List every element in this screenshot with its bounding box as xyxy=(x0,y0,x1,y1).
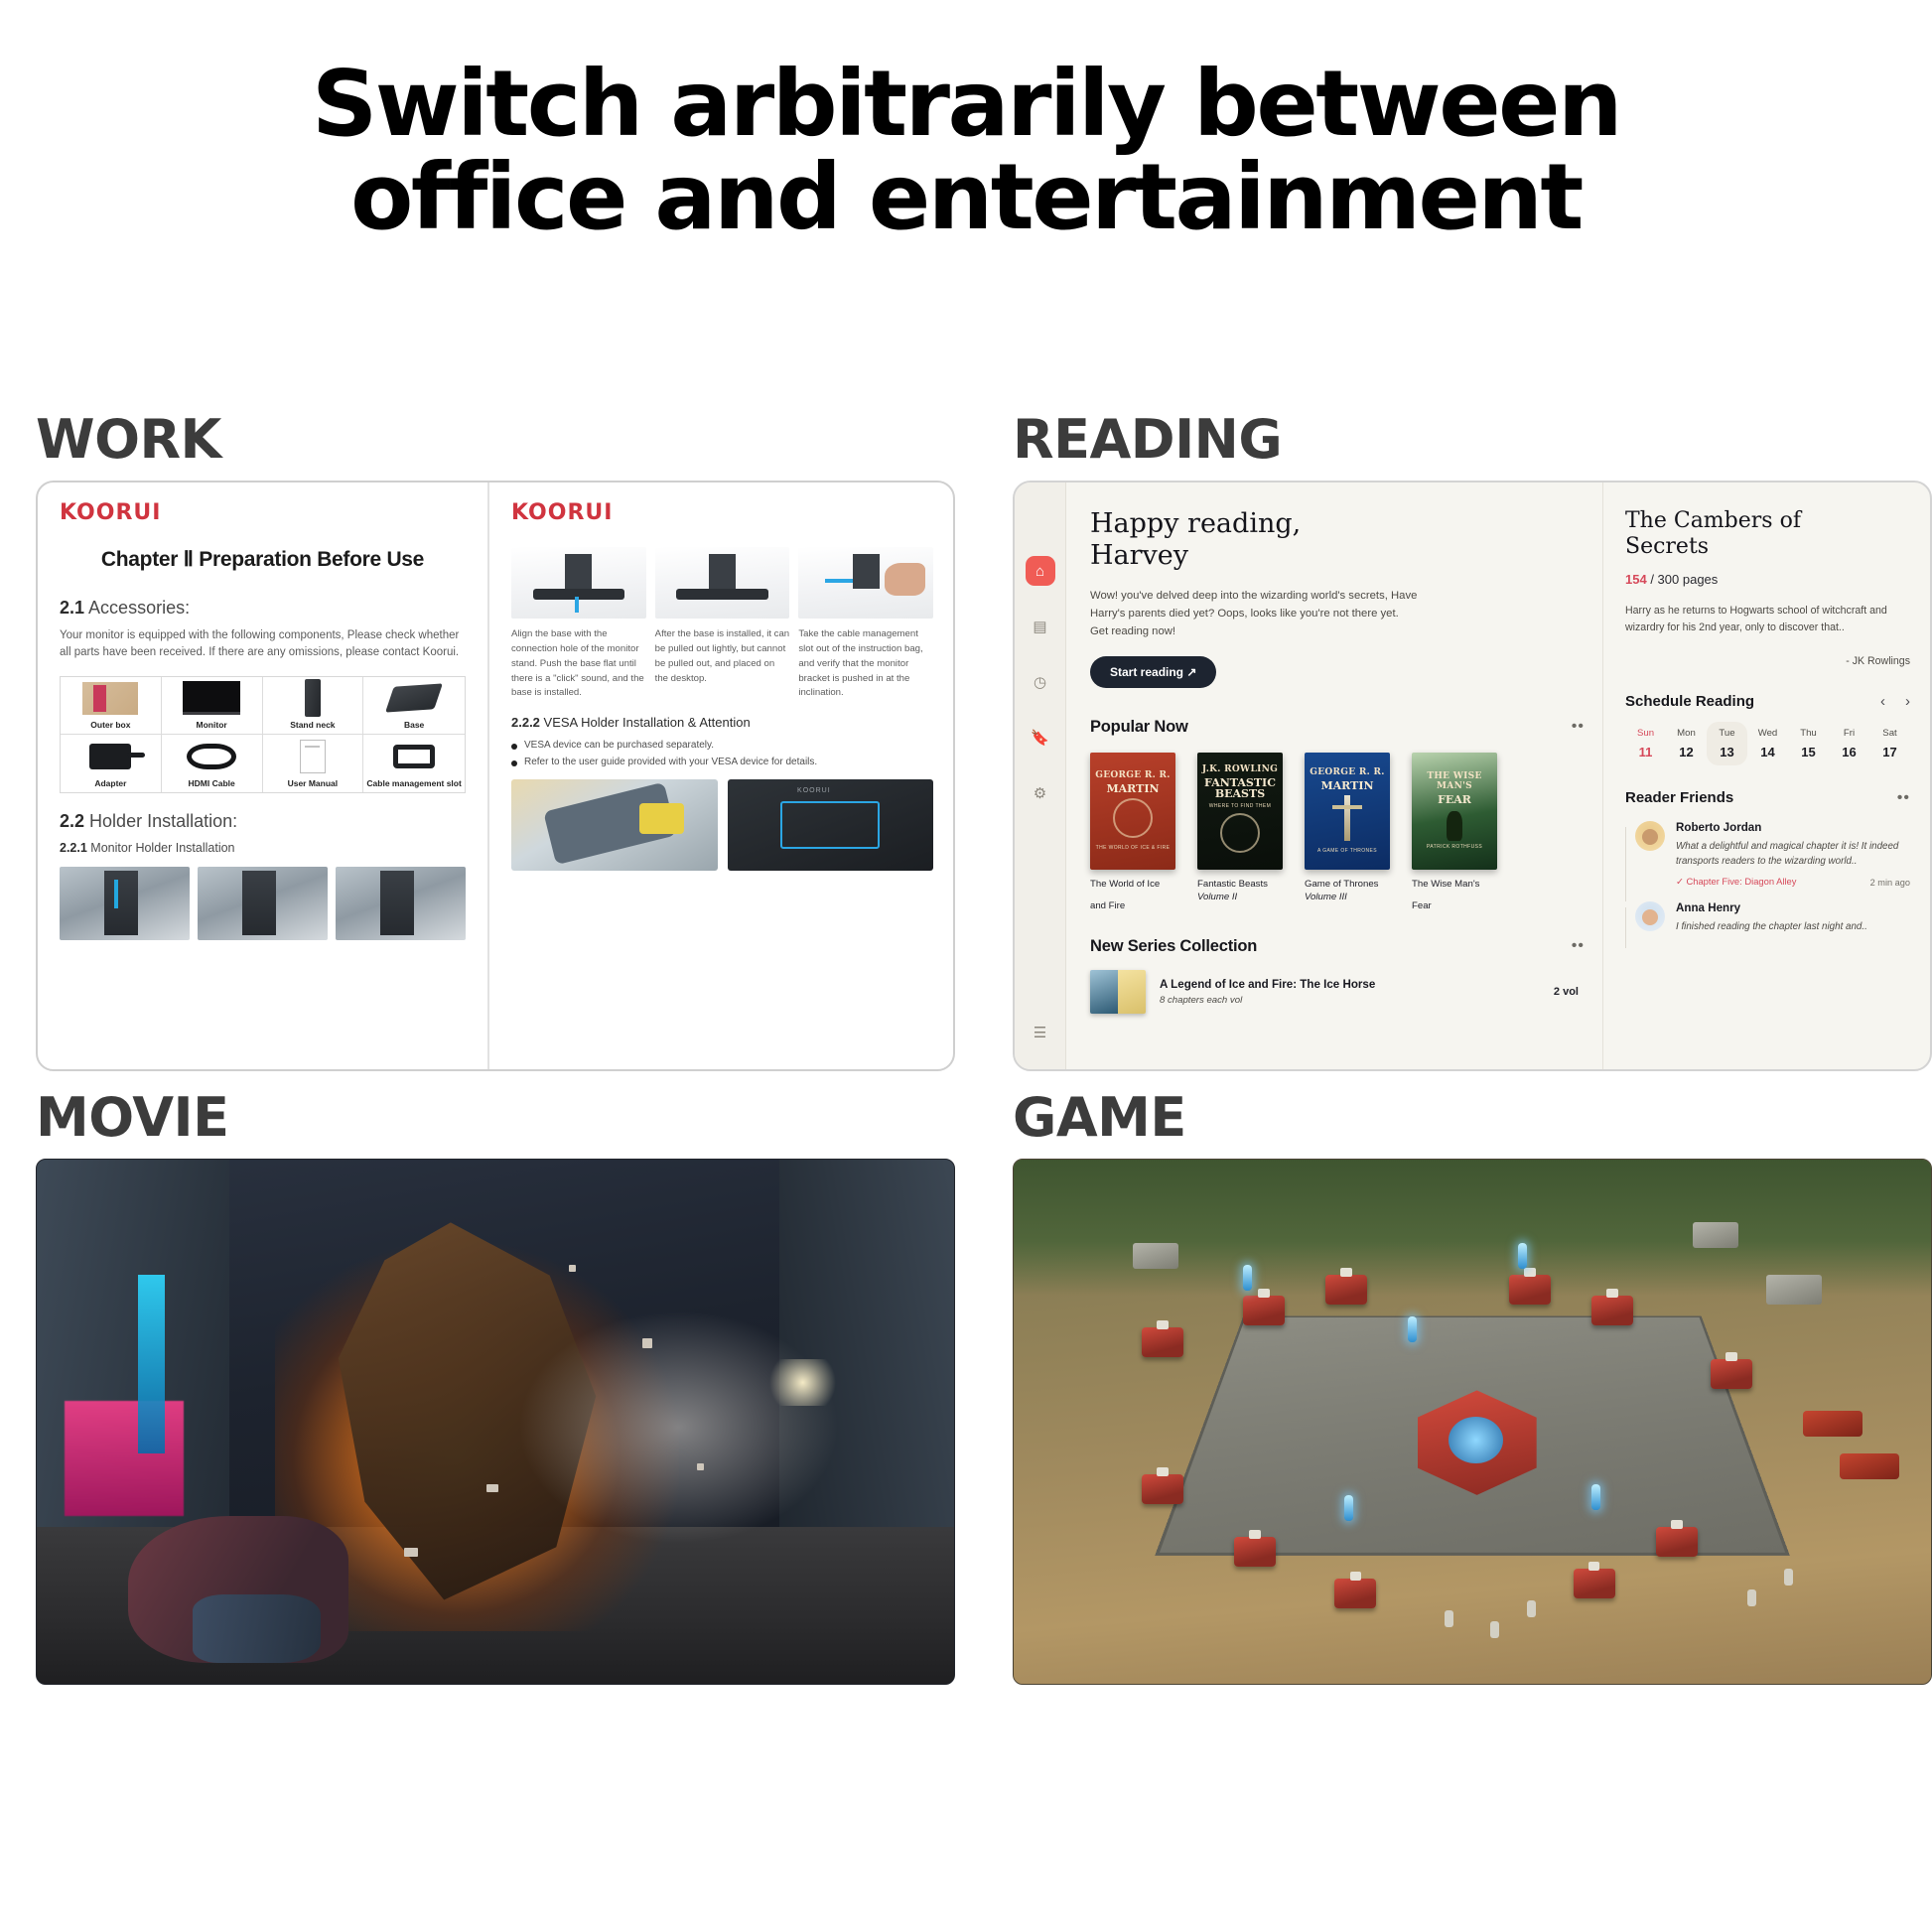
new-series-header: New Series Collection •• xyxy=(1090,937,1585,956)
cover-author: THE WISE MAN'S xyxy=(1416,772,1493,792)
calendar-dow: Thu xyxy=(1788,728,1829,739)
installation-photo xyxy=(60,867,190,940)
calendar-date: 11 xyxy=(1625,745,1666,759)
calendar-date: 13 xyxy=(1707,745,1747,759)
section-2-1-number: 2.1 xyxy=(60,598,84,618)
quadrant-movie: MOVIE xyxy=(36,1091,991,1685)
series-name: A Legend of Ice and Fire: The Ice Horse xyxy=(1160,978,1375,991)
book-card[interactable]: THE WISE MAN'S FEAR PATRICK ROTHFUSS The… xyxy=(1412,753,1497,913)
game-energy-beam xyxy=(1591,1484,1600,1510)
section-2-2-2-heading: 2.2.2 VESA Holder Installation & Attenti… xyxy=(511,715,933,730)
game-unit[interactable] xyxy=(1334,1579,1376,1608)
neon-strip-icon xyxy=(138,1275,166,1453)
book-title: The World of Ice xyxy=(1090,879,1175,892)
headline-line-2: office and entertainment xyxy=(0,151,1932,244)
cover-author: GEORGE R. R. xyxy=(1095,771,1171,781)
game-unit[interactable] xyxy=(1574,1569,1615,1598)
movie-debris xyxy=(642,1338,652,1348)
game-crate[interactable] xyxy=(1133,1243,1178,1269)
chevron-left-icon[interactable]: ‹ xyxy=(1880,693,1885,710)
book-title: Game of Thrones xyxy=(1305,879,1390,892)
accessory-cell: Base xyxy=(363,677,465,735)
avatar xyxy=(1635,821,1665,851)
current-book-author: - JK Rowlings xyxy=(1625,655,1910,667)
book-cover: THE WISE MAN'S FEAR PATRICK ROTHFUSS xyxy=(1412,753,1497,870)
movie-debris xyxy=(486,1484,498,1492)
game-soldier[interactable] xyxy=(1490,1621,1499,1638)
popular-now-title: Popular Now xyxy=(1090,718,1188,737)
manual-page-right: KOORUI Align the base with the connectio… xyxy=(489,483,953,1069)
book-cover: J.K. ROWLING FANTASTIC BEASTS WHERE TO F… xyxy=(1197,753,1283,870)
installation-photo xyxy=(336,867,466,940)
chapter-title: Chapter Ⅱ Preparation Before Use xyxy=(60,547,466,572)
movie-debris xyxy=(404,1548,418,1557)
emblem-icon xyxy=(1113,798,1153,838)
game-soldier[interactable] xyxy=(1527,1600,1536,1617)
friend-timestamp: 2 min ago xyxy=(1870,878,1910,888)
settings-icon[interactable]: ⚙ xyxy=(1026,778,1055,808)
calendar-nav: ‹ › xyxy=(1880,693,1910,710)
cover-author: GEORGE R. R. xyxy=(1310,768,1385,778)
calendar-day[interactable]: Thu 15 xyxy=(1788,722,1829,765)
calendar-dow: Sat xyxy=(1869,728,1910,739)
section-2-2-1-title: Monitor Holder Installation xyxy=(90,841,234,855)
neon-sign-icon xyxy=(65,1401,184,1516)
koorui-logo: KOORUI xyxy=(511,500,933,525)
accessory-label: Adapter xyxy=(94,778,126,788)
game-label: GAME xyxy=(1013,1091,1932,1145)
more-dots-icon[interactable]: •• xyxy=(1572,718,1585,736)
manual-page-left: KOORUI Chapter Ⅱ Preparation Before Use … xyxy=(38,483,489,1069)
quadrant-work: WORK KOORUI Chapter Ⅱ Preparation Before… xyxy=(36,413,991,1071)
page-progress: 154 / 300 pages xyxy=(1625,572,1910,587)
book-card[interactable]: GEORGE R. R. MARTIN A GAME OF THRONES Ga… xyxy=(1305,753,1390,913)
accessory-label: HDMI Cable xyxy=(189,778,235,788)
movie-smoke xyxy=(513,1307,844,1548)
calendar-day[interactable]: Sun 11 xyxy=(1625,722,1666,765)
step-captions: Align the base with the connection hole … xyxy=(511,627,933,701)
section-2-1-heading: 2.1 Accessories: xyxy=(60,598,466,619)
vesa-photo-monitor-back: KOORUI xyxy=(728,779,934,871)
section-2-2-title: Holder Installation: xyxy=(89,811,237,831)
game-crate[interactable] xyxy=(1693,1222,1738,1248)
cover-name: FEAR xyxy=(1438,794,1471,806)
game-energy-beam xyxy=(1518,1243,1527,1269)
game-unit[interactable] xyxy=(1656,1527,1698,1557)
accessory-cell: Stand neck xyxy=(263,677,364,735)
calendar-day[interactable]: Wed 14 xyxy=(1747,722,1788,765)
cover-subtitle: THE WORLD OF ICE & FIRE xyxy=(1096,845,1171,851)
friend-message: I finished reading the chapter last nigh… xyxy=(1676,919,1910,934)
game-unit[interactable] xyxy=(1325,1275,1367,1305)
cover-name: FANTASTIC BEASTS xyxy=(1201,777,1279,800)
book-title-2: and Fire xyxy=(1090,900,1175,913)
step-caption: After the base is installed, it can be p… xyxy=(655,627,790,701)
current-book-title-line-1: The Cambers of xyxy=(1625,508,1910,534)
cover-name: MARTIN xyxy=(1106,783,1159,795)
hdmi-cable-icon xyxy=(162,735,262,778)
cover-author: J.K. ROWLING xyxy=(1202,765,1278,775)
cover-subtitle: WHERE TO FIND THEM xyxy=(1209,803,1271,809)
pages-current: 154 xyxy=(1625,572,1647,587)
accessory-label: Monitor xyxy=(197,720,227,730)
movie-scene-screen xyxy=(36,1159,955,1685)
greeting-line-1: Happy reading, xyxy=(1090,508,1585,540)
game-soldier[interactable] xyxy=(1747,1589,1756,1606)
book-title: Fantastic Beasts xyxy=(1197,879,1283,892)
section-2-2-1-number: 2.2.1 xyxy=(60,841,87,855)
work-label: WORK xyxy=(36,413,991,467)
reader-friends-header: Reader Friends •• xyxy=(1625,789,1910,807)
reading-greeting: Happy reading, Harvey xyxy=(1090,508,1585,573)
section-2-2-2-title: VESA Holder Installation & Attention xyxy=(544,715,751,730)
more-dots-icon[interactable]: •• xyxy=(1572,937,1585,955)
game-soldier[interactable] xyxy=(1784,1569,1793,1586)
book-volume: Volume II xyxy=(1197,892,1283,904)
reading-sidebar: ⌂ ▤ ◷ 🔖 ⚙ ☰ xyxy=(1015,483,1066,1069)
game-scene-screen xyxy=(1013,1159,1932,1685)
sword-icon xyxy=(1344,795,1350,841)
accessory-label: Cable management slot xyxy=(366,778,461,788)
reading-side-panel: The Cambers of Secrets 154 / 300 pages H… xyxy=(1602,483,1930,1069)
calendar-dow: Tue xyxy=(1707,728,1747,739)
figure-icon xyxy=(1447,811,1462,841)
schedule-reading-header: Schedule Reading ‹ › xyxy=(1625,693,1910,710)
series-cover xyxy=(1090,970,1146,1014)
cover-subtitle: A GAME OF THRONES xyxy=(1317,848,1377,854)
menu-icon[interactable]: ☰ xyxy=(1026,1018,1055,1047)
game-energy-beam xyxy=(1243,1265,1252,1291)
step-photo xyxy=(511,547,646,619)
book-cover: GEORGE R. R. MARTIN A GAME OF THRONES xyxy=(1305,753,1390,870)
start-reading-button[interactable]: Start reading ↗ xyxy=(1090,656,1216,688)
installation-photo xyxy=(198,867,328,940)
movie-label: MOVIE xyxy=(36,1091,991,1145)
accessory-label: User Manual xyxy=(288,778,339,788)
accessories-table: Outer box Monitor Stand neck Base xyxy=(60,676,466,793)
calendar-date: 14 xyxy=(1747,745,1788,759)
reading-intro-text: Wow! you've delved deep into the wizardi… xyxy=(1090,587,1418,640)
section-2-2-number: 2.2 xyxy=(60,811,84,831)
calendar-dow: Fri xyxy=(1829,728,1869,739)
koorui-logo-small: KOORUI xyxy=(797,787,831,794)
game-soldier[interactable] xyxy=(1445,1610,1453,1627)
reader-friends-title: Reader Friends xyxy=(1625,789,1733,806)
timer-icon[interactable]: ◷ xyxy=(1026,667,1055,697)
book-title: The Wise Man's xyxy=(1412,879,1497,892)
greeting-line-2: Harvey xyxy=(1090,540,1585,572)
accessory-label: Stand neck xyxy=(290,720,335,730)
calendar-day[interactable]: Sat 17 xyxy=(1869,722,1910,765)
vesa-photo xyxy=(511,779,718,871)
vesa-bullet: VESA device can be purchased separately. xyxy=(511,740,933,751)
installation-photos xyxy=(60,867,466,940)
section-2-1-body: Your monitor is equipped with the follow… xyxy=(60,627,466,662)
series-volume-count: 2 vol xyxy=(1554,986,1585,998)
step-photos xyxy=(511,547,933,619)
calendar-date: 16 xyxy=(1829,745,1869,759)
calendar-day[interactable]: Mon 12 xyxy=(1666,722,1707,765)
adapter-icon xyxy=(61,735,161,778)
bullet-dot-icon xyxy=(511,744,517,750)
friend-name: Roberto Jordan xyxy=(1676,821,1910,834)
game-energy-beam xyxy=(1344,1495,1353,1521)
cable-slot-icon xyxy=(363,735,465,778)
movie-character-legs xyxy=(193,1594,321,1663)
accessory-label: Base xyxy=(404,720,424,730)
calendar-dow: Sun xyxy=(1625,728,1666,739)
library-icon[interactable]: ▤ xyxy=(1026,612,1055,641)
calendar-week: Sun 11 Mon 12 Tue 13 Wed 14 xyxy=(1625,722,1910,765)
movie-debris xyxy=(697,1463,704,1470)
step-photo xyxy=(655,547,790,619)
section-2-1-title: Accessories: xyxy=(88,598,190,618)
bookmark-icon[interactable]: 🔖 xyxy=(1026,723,1055,753)
calendar-date: 15 xyxy=(1788,745,1829,759)
accessory-cell: Adapter xyxy=(61,735,162,792)
calendar-date: 17 xyxy=(1869,745,1910,759)
reading-main-column: Happy reading, Harvey Wow! you've delved… xyxy=(1066,483,1602,1069)
accessory-cell: HDMI Cable xyxy=(162,735,263,792)
game-unit[interactable] xyxy=(1243,1296,1285,1325)
outer-box-icon xyxy=(61,677,161,720)
koorui-logo: KOORUI xyxy=(60,500,466,525)
book-title-2: Fear xyxy=(1412,900,1497,913)
friend-activity-item[interactable]: Anna Henry I finished reading the chapte… xyxy=(1625,901,1910,934)
friend-activity-item[interactable]: Roberto Jordan What a delightful and mag… xyxy=(1625,821,1910,888)
vesa-bullet-text: Refer to the user guide provided with yo… xyxy=(524,757,817,767)
headline-line-1: Switch arbitrarily between xyxy=(0,58,1932,151)
current-book-description: Harry as he returns to Hogwarts school o… xyxy=(1625,603,1910,637)
reading-app-screen: ⌂ ▤ ◷ 🔖 ⚙ ☰ Happy reading, Harvey Wow! y… xyxy=(1013,481,1932,1071)
page-title: Switch arbitrarily between office and en… xyxy=(0,0,1932,244)
game-crate[interactable] xyxy=(1766,1275,1822,1305)
user-manual-icon xyxy=(263,735,363,778)
book-cover: GEORGE R. R. MARTIN THE WORLD OF ICE & F… xyxy=(1090,753,1175,870)
friend-name: Anna Henry xyxy=(1676,901,1910,914)
cover-subtitle: PATRICK ROTHFUSS xyxy=(1427,844,1482,850)
calendar-dow: Wed xyxy=(1747,728,1788,739)
calendar-dow: Mon xyxy=(1666,728,1707,739)
step-photo xyxy=(798,547,933,619)
section-2-2-1-heading: 2.2.1 Monitor Holder Installation xyxy=(60,841,466,855)
accessory-cell: User Manual xyxy=(263,735,364,792)
series-list-item[interactable]: A Legend of Ice and Fire: The Ice Horse … xyxy=(1090,970,1585,1014)
base-icon xyxy=(363,677,465,720)
chevron-right-icon[interactable]: › xyxy=(1905,693,1910,710)
movie-streetlight xyxy=(761,1359,844,1407)
step-caption: Align the base with the connection hole … xyxy=(511,627,646,701)
vesa-bullet: Refer to the user guide provided with yo… xyxy=(511,757,933,767)
work-document-screen: KOORUI Chapter Ⅱ Preparation Before Use … xyxy=(36,481,955,1071)
quadrant-game: GAME xyxy=(1013,1091,1932,1685)
accessory-label: Outer box xyxy=(90,720,130,730)
step-caption: Take the cable management slot out of th… xyxy=(798,627,933,701)
game-unit[interactable] xyxy=(1142,1474,1183,1504)
book-volume: Volume III xyxy=(1305,892,1390,904)
section-2-2-heading: 2.2 Holder Installation: xyxy=(60,811,466,832)
book-card[interactable]: J.K. ROWLING FANTASTIC BEASTS WHERE TO F… xyxy=(1197,753,1283,913)
accessory-cell: Outer box xyxy=(61,677,162,735)
accessory-cell: Monitor xyxy=(162,677,263,735)
avatar xyxy=(1635,901,1665,931)
game-unit[interactable] xyxy=(1711,1359,1752,1389)
section-2-2-2-number: 2.2.2 xyxy=(511,715,540,730)
pages-total: / 300 pages xyxy=(1650,572,1718,587)
cover-name: MARTIN xyxy=(1320,780,1373,792)
game-energy-beam xyxy=(1408,1316,1417,1342)
calendar-day[interactable]: Fri 16 xyxy=(1829,722,1869,765)
home-icon[interactable]: ⌂ xyxy=(1026,556,1055,586)
vesa-bullet-text: VESA device can be purchased separately. xyxy=(524,740,714,751)
new-series-title: New Series Collection xyxy=(1090,937,1257,956)
game-unit[interactable] xyxy=(1591,1296,1633,1325)
calendar-date: 12 xyxy=(1666,745,1707,759)
current-book-title-line-2: Secrets xyxy=(1625,534,1910,560)
monitor-icon xyxy=(162,677,262,720)
popular-books-list: GEORGE R. R. MARTIN THE WORLD OF ICE & F… xyxy=(1090,753,1585,913)
more-dots-icon[interactable]: •• xyxy=(1897,789,1910,807)
emblem-icon xyxy=(1220,813,1260,853)
accessory-cell: Cable management slot xyxy=(363,735,465,792)
quadrant-reading: READING ⌂ ▤ ◷ 🔖 ⚙ ☰ Happy reading, Harve… xyxy=(1013,413,1932,1071)
game-unit[interactable] xyxy=(1509,1275,1551,1305)
vesa-photos: KOORUI xyxy=(511,779,933,871)
game-vehicle[interactable] xyxy=(1803,1411,1863,1437)
bullet-dot-icon xyxy=(511,760,517,766)
game-unit[interactable] xyxy=(1142,1327,1183,1357)
popular-now-header: Popular Now •• xyxy=(1090,718,1585,737)
friend-message: What a delightful and magical chapter it… xyxy=(1676,839,1910,869)
movie-debris xyxy=(569,1265,576,1272)
scenario-grid: WORK KOORUI Chapter Ⅱ Preparation Before… xyxy=(0,413,1932,1685)
game-unit[interactable] xyxy=(1234,1537,1276,1567)
series-meta: 8 chapters each vol xyxy=(1160,995,1375,1006)
game-vehicle[interactable] xyxy=(1840,1453,1899,1479)
book-card[interactable]: GEORGE R. R. MARTIN THE WORLD OF ICE & F… xyxy=(1090,753,1175,913)
current-book-title: The Cambers of Secrets xyxy=(1625,508,1910,560)
stand-neck-icon xyxy=(263,677,363,720)
calendar-day-selected[interactable]: Tue 13 xyxy=(1707,722,1747,765)
reading-label: READING xyxy=(1013,413,1932,467)
schedule-reading-title: Schedule Reading xyxy=(1625,693,1754,710)
